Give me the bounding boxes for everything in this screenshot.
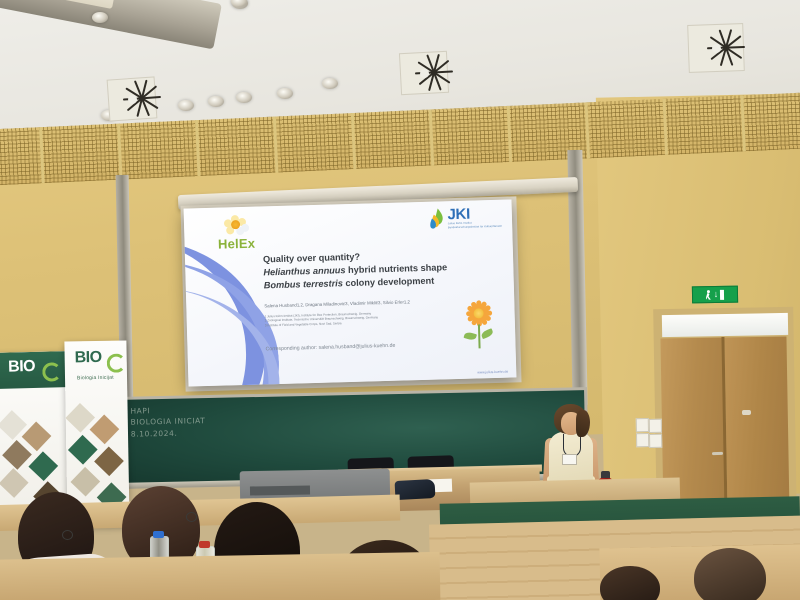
slide-title-line-2-rest: hybrid nutrients shape — [345, 262, 447, 275]
lecture-hall-photo: HelEx JKI Julius Kühn-Institut Bundesfor… — [0, 0, 800, 600]
eyeglasses-icon — [186, 512, 197, 522]
air-diffuser-icon — [399, 51, 449, 95]
banner-diamond — [0, 468, 29, 498]
chalk-line-1: HAPI — [130, 406, 150, 415]
downlight-icon — [236, 92, 252, 103]
door-transom-window — [662, 313, 788, 337]
jki-wordmark: JKI — [447, 206, 502, 223]
slide-title-line-3-rest: colony development — [343, 276, 435, 289]
door-handle[interactable] — [712, 452, 723, 455]
downlight-icon — [92, 12, 108, 23]
sunflower-stem — [478, 324, 481, 348]
eyeglasses-icon — [62, 530, 73, 540]
banner-diamond — [90, 415, 120, 445]
door-icon — [720, 289, 724, 299]
projection-screen: HelEx JKI Julius Kühn-Institut Bundesfor… — [184, 199, 517, 386]
banner-wordmark: BIO — [75, 349, 102, 367]
banner-wordmark: BIO — [8, 358, 35, 377]
slide-surface: HelEx JKI Julius Kühn-Institut Bundesfor… — [184, 199, 517, 386]
banner-diamond — [28, 451, 58, 481]
light-switch[interactable] — [649, 419, 662, 433]
door-push-plate[interactable] — [742, 410, 751, 415]
daisy-flower-icon — [223, 215, 250, 236]
air-diffuser-icon — [687, 23, 745, 73]
monitor-stand — [250, 485, 310, 495]
audience-head — [694, 548, 766, 600]
door-right[interactable] — [724, 336, 789, 515]
banner-diamond — [68, 435, 98, 465]
jki-logo: JKI Julius Kühn-Institut Bundesforschung… — [428, 206, 502, 230]
banner-subtitle: Biologia Inicijat — [77, 375, 114, 382]
conference-badge — [562, 454, 577, 465]
bottle-cap — [153, 531, 164, 538]
light-switch[interactable] — [636, 433, 649, 447]
audience-desk-row-2 — [0, 552, 440, 600]
bottle-cap — [199, 541, 210, 548]
slide-authors: Salena Husband1,2, Dragana Miladinović3,… — [264, 299, 410, 308]
banner-diamond — [94, 446, 124, 476]
light-switch[interactable] — [636, 418, 649, 432]
jki-leaf-flame-icon — [428, 207, 446, 229]
chalk-line-3: 8.10.2024. — [131, 429, 178, 439]
helex-wordmark: HelEx — [200, 235, 272, 252]
banner-diamond — [2, 440, 32, 470]
bag-on-desk — [395, 479, 436, 500]
sunflower-icon — [458, 300, 499, 353]
chalk-line-2: BIOLOGIA INICIAT — [131, 416, 206, 427]
arrow-down-icon: ↓ — [714, 290, 719, 299]
air-diffuser-icon — [107, 76, 158, 121]
downlight-icon — [208, 96, 224, 107]
sunflower-leaf — [464, 331, 477, 341]
light-switch[interactable] — [649, 434, 662, 448]
downlight-icon — [178, 100, 194, 111]
banner-diamond — [70, 467, 100, 497]
downlight-icon — [277, 88, 293, 99]
running-man-icon — [706, 290, 712, 300]
species-name-helianthus: Helianthus annuus — [263, 265, 345, 277]
helex-logo: HelEx — [200, 214, 273, 252]
exit-sign: ↓ — [692, 286, 738, 304]
downlight-icon — [322, 78, 338, 89]
slide-corresponding-author: Corresponding author: salena.husband@jul… — [265, 343, 395, 353]
light-switch-panel[interactable] — [636, 418, 663, 448]
sunflower-leaf — [480, 328, 494, 339]
slide-affiliations: 1 Julius Kühn-Institut (JKI), Institute … — [265, 311, 379, 327]
banner-diamond — [22, 422, 52, 452]
banner-ring-icon — [107, 353, 126, 372]
slide-title: Quality over quantity? Helianthus annuus… — [263, 247, 506, 293]
species-name-bombus: Bombus terrestris — [264, 279, 343, 291]
slide-footer-url: www.julius-kuehn.de — [477, 370, 508, 375]
presenter-hair-side — [576, 410, 590, 437]
